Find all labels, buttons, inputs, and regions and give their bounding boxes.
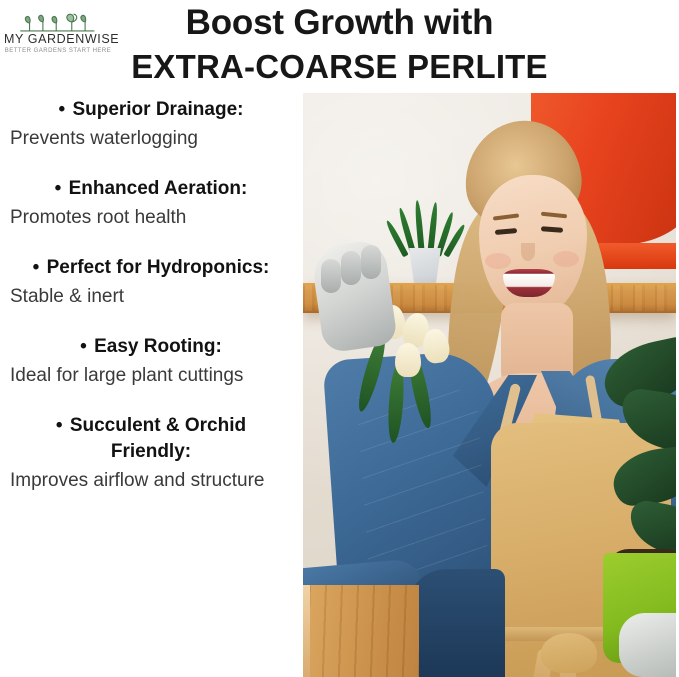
benefit-heading: • Easy Rooting: (10, 334, 292, 360)
photo-cheek-left (485, 253, 511, 269)
benefit-description: Stable & inert (10, 282, 292, 312)
photo-apron-bow (541, 633, 597, 673)
photo-glove-finger (321, 259, 341, 293)
photo-grass-plant (401, 198, 453, 256)
bullet-icon: • (55, 178, 62, 199)
photo-cheek-right (553, 251, 579, 267)
benefit-item: • Easy Rooting: Ideal for large plant cu… (10, 334, 292, 391)
photo-gardening-glove-second (619, 613, 676, 677)
photo-cabinet-grain (309, 585, 419, 677)
benefit-item: • Superior Drainage: Prevents waterloggi… (10, 97, 292, 154)
bullet-icon: • (56, 415, 63, 436)
benefit-heading-text: Succulent & Orchid Friendly: (70, 415, 246, 462)
benefit-item: • Succulent & Orchid Friendly: Improves … (10, 413, 292, 496)
title-line-1: Boost Growth with (0, 2, 679, 43)
benefit-description: Promotes root health (10, 203, 292, 233)
bullet-icon: • (33, 257, 40, 278)
benefit-heading: • Superior Drainage: (10, 97, 292, 123)
bullet-icon: • (59, 99, 66, 120)
photo-nose (521, 243, 535, 261)
benefit-item: • Perfect for Hydroponics: Stable & iner… (10, 255, 292, 312)
bullet-icon: • (80, 336, 87, 357)
benefit-item: • Enhanced Aeration: Promotes root healt… (10, 176, 292, 233)
benefit-description: Improves airflow and structure (10, 466, 292, 496)
photo-glove-finger (361, 245, 381, 279)
benefit-heading: • Perfect for Hydroponics: (10, 255, 292, 281)
photo-cabinet-edge (303, 585, 310, 677)
photo-glove-finger (341, 251, 361, 285)
benefit-heading-text: Superior Drainage: (72, 99, 243, 120)
perlite-benefits-infographic: MY GARDENWISE BETTER GARDENS START HERE … (0, 0, 679, 677)
page-title: Boost Growth with EXTRA-COARSE PERLITE (0, 0, 679, 88)
benefit-heading-text: Easy Rooting: (94, 336, 222, 357)
title-line-2: EXTRA-COARSE PERLITE (0, 46, 679, 88)
benefits-list: • Superior Drainage: Prevents waterloggi… (0, 97, 300, 496)
gardener-photo (303, 93, 676, 677)
photo-arm-lower (407, 569, 505, 677)
benefit-description: Prevents waterlogging (10, 124, 292, 154)
photo-tulip-bloom (395, 343, 421, 377)
benefit-heading: • Enhanced Aeration: (10, 176, 292, 202)
benefit-description: Ideal for large plant cuttings (10, 361, 292, 391)
benefit-heading-text: Perfect for Hydroponics: (47, 257, 270, 278)
benefit-heading-text: Enhanced Aeration: (69, 178, 248, 199)
benefit-heading: • Succulent & Orchid Friendly: (10, 413, 292, 465)
